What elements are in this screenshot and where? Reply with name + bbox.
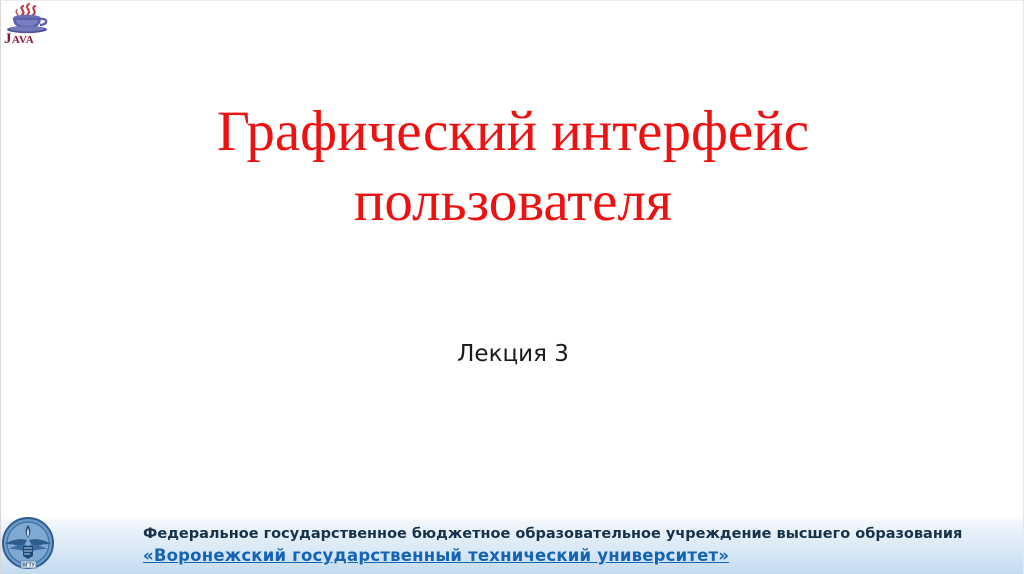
java-logo: Java	[3, 2, 55, 50]
lecture-subtitle: Лекция 3	[61, 339, 965, 369]
footer-text-block: Федеральное государственное бюджетное об…	[143, 524, 1013, 567]
footer-band: ВГТУ Федеральное государственное бюджетн…	[1, 516, 1023, 574]
footer-university-link[interactable]: «Воронежский государственный технический…	[143, 545, 1013, 567]
title-block: Графический интерфейс пользователя	[61, 97, 965, 237]
presentation-slide: Java Графический интерфейс пользователя …	[0, 0, 1024, 574]
footer-institution-line: Федеральное государственное бюджетное об…	[143, 524, 1013, 544]
page-title-line-2: пользователя	[61, 167, 965, 237]
vstu-emblem-icon: ВГТУ	[1, 516, 59, 574]
page-title-line-1: Графический интерфейс	[61, 97, 965, 167]
subtitle-block: Лекция 3	[61, 339, 965, 369]
emblem-label: ВГТУ	[22, 563, 35, 569]
java-wordmark: Java	[4, 30, 54, 48]
